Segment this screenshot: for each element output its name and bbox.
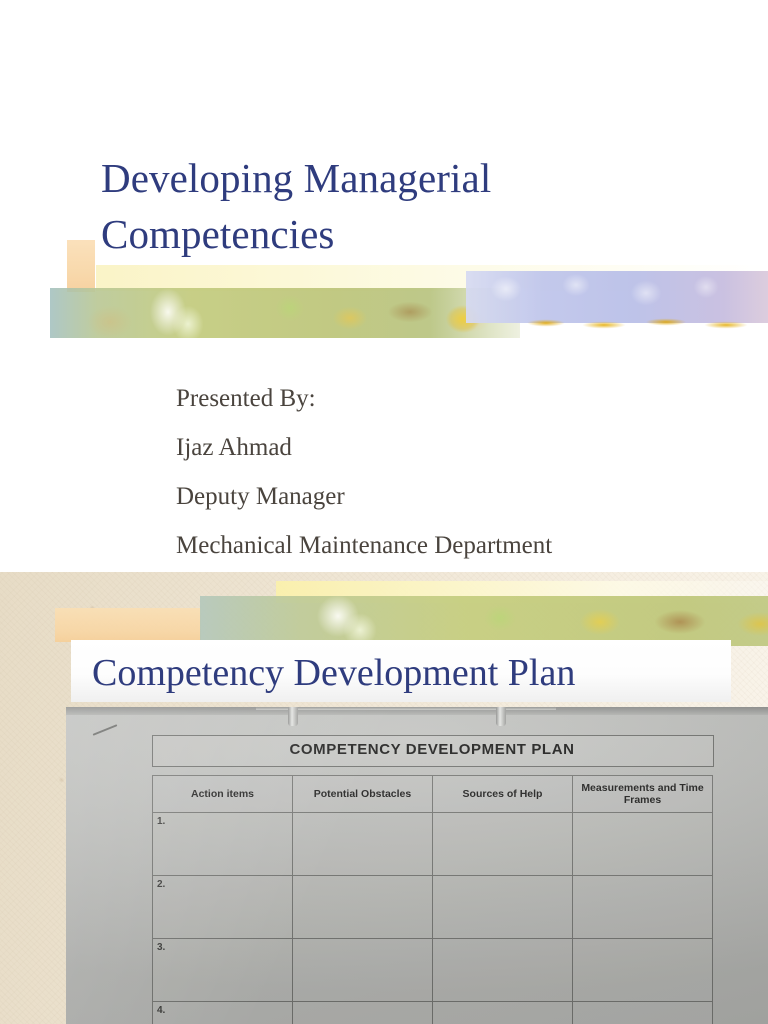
table-row: 4.	[153, 1002, 713, 1024]
slide-title-heading: Developing Managerial Competencies	[101, 150, 721, 262]
document-title: COMPETENCY DEVELOPMENT PLAN	[152, 737, 712, 763]
table-row: 3.	[153, 939, 713, 1002]
cell-measurements	[573, 876, 713, 939]
slide2-peach-accent-tab	[55, 608, 201, 642]
column-header-potential-obstacles: Potential Obstacles	[293, 776, 433, 813]
binder-ring-icon	[496, 707, 506, 726]
presenter-department: Mechanical Maintenance Department	[176, 521, 736, 570]
presented-by-label: Presented By:	[176, 374, 736, 423]
presenter-title: Deputy Manager	[176, 472, 736, 521]
column-header-measurements-and-time-frames: Measurements and Time Frames	[573, 776, 713, 813]
table-row: 2.	[153, 876, 713, 939]
cell-sources-of-help	[433, 939, 573, 1002]
clipboard-photo: COMPETENCY DEVELOPMENT PLAN Action items…	[66, 707, 768, 1024]
slide2-title-heading: Competency Development Plan	[92, 648, 752, 698]
row-number: 3.	[153, 939, 293, 1002]
slide-title: Developing Managerial Competencies Prese…	[0, 0, 768, 572]
cell-sources-of-help	[433, 1002, 573, 1024]
pencil-mark	[93, 724, 118, 736]
table-header-row: Action items Potential Obstacles Sources…	[153, 776, 713, 813]
row-number: 4.	[153, 1002, 293, 1024]
binder-ring-icon	[288, 707, 298, 726]
presenter-block: Presented By: Ijaz Ahmad Deputy Manager …	[176, 374, 736, 570]
peach-accent-tab	[67, 240, 95, 292]
cell-sources-of-help	[433, 876, 573, 939]
cell-sources-of-help	[433, 813, 573, 876]
cell-measurements	[573, 939, 713, 1002]
column-header-sources-of-help: Sources of Help	[433, 776, 573, 813]
cell-potential-obstacles	[293, 813, 433, 876]
cell-potential-obstacles	[293, 1002, 433, 1024]
competency-development-plan-table: Action items Potential Obstacles Sources…	[152, 775, 713, 1024]
slide2-decorative-band-leaves	[200, 596, 768, 646]
column-header-action-items: Action items	[153, 776, 293, 813]
presenter-name: Ijaz Ahmad	[176, 423, 736, 472]
row-number: 1.	[153, 813, 293, 876]
cell-measurements	[573, 1002, 713, 1024]
cell-measurements	[573, 813, 713, 876]
decorative-band-wheat	[520, 316, 768, 334]
cell-potential-obstacles	[293, 876, 433, 939]
table-row: 1.	[153, 813, 713, 876]
cell-potential-obstacles	[293, 939, 433, 1002]
binder-bar	[256, 707, 556, 710]
row-number: 2.	[153, 876, 293, 939]
